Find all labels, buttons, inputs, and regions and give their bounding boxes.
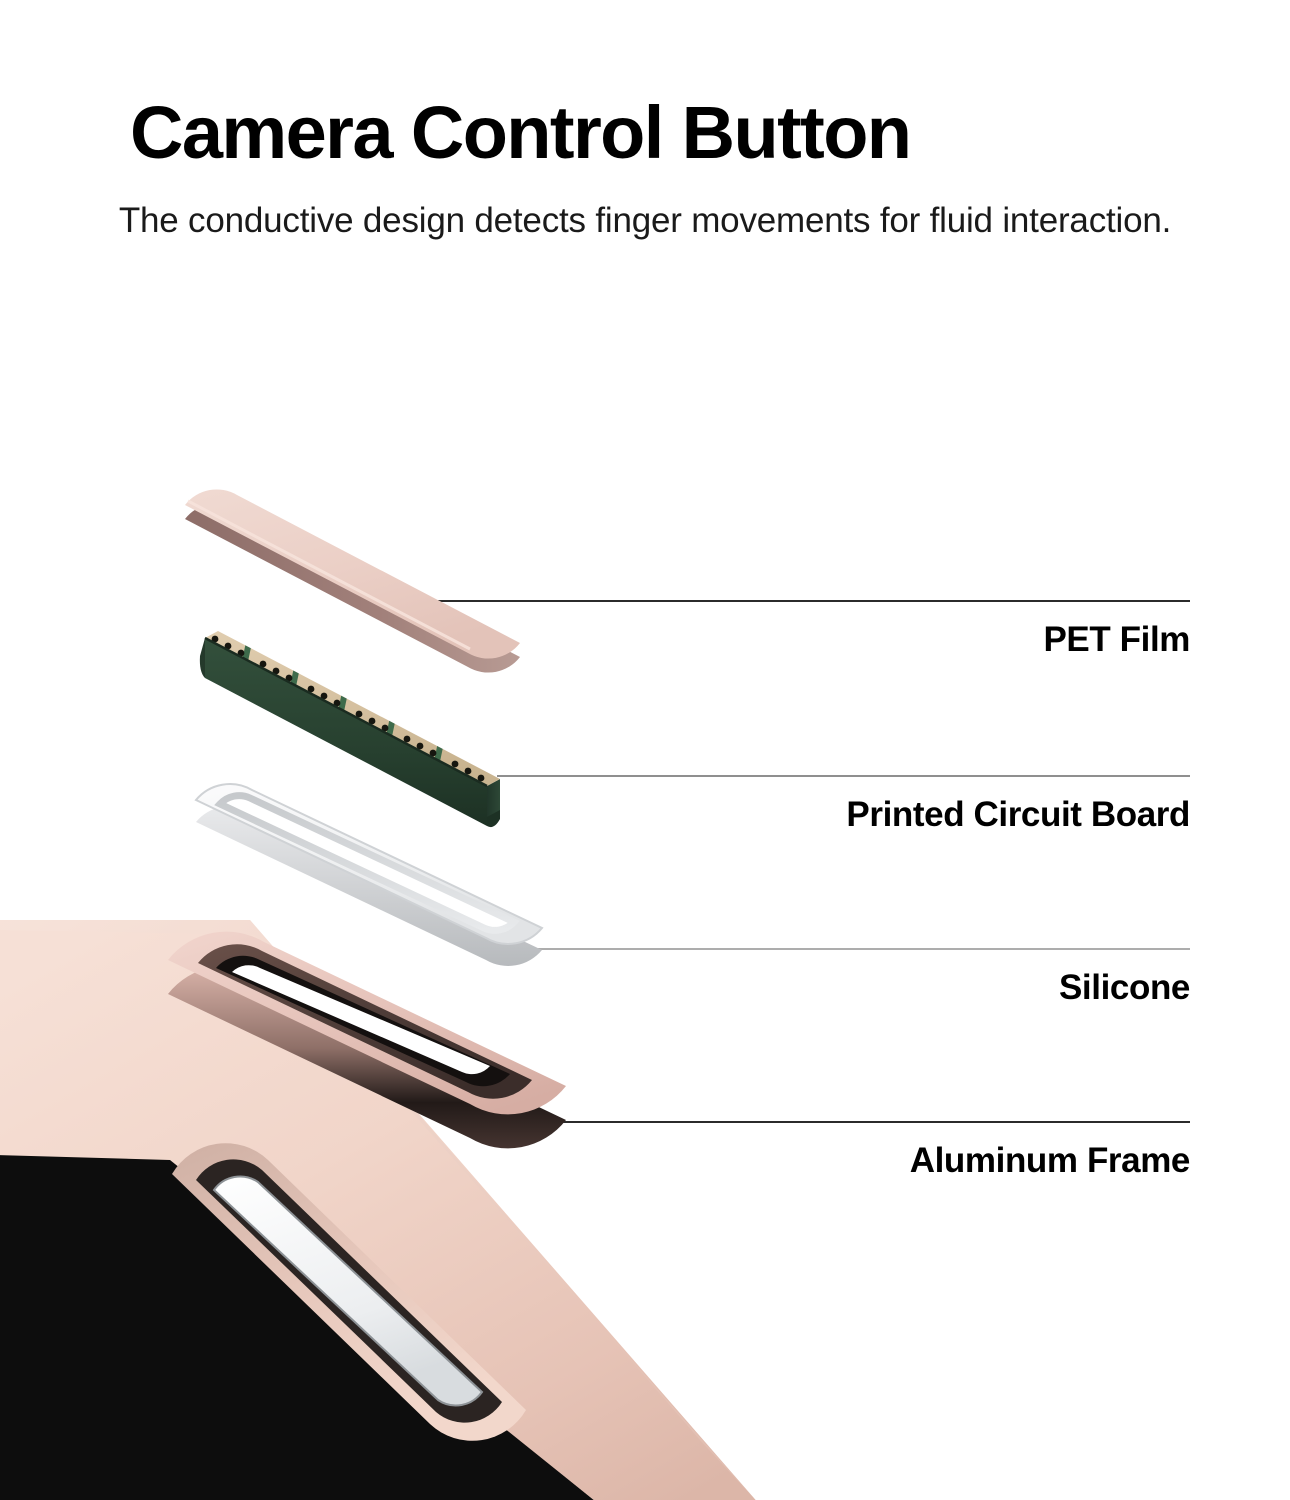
infographic-page: Camera Control Button The conductive des… [0, 0, 1290, 1500]
callout-aluminum-frame: Aluminum Frame [390, 1143, 1190, 1178]
callout-label-pet-film: PET Film [390, 622, 1190, 657]
callout-silicone: Silicone [390, 970, 1190, 1005]
callout-label-printed-circuit-board: Printed Circuit Board [390, 797, 1190, 832]
leader-lines [422, 601, 1190, 1122]
pcb-left-end [200, 638, 205, 678]
callout-label-silicone: Silicone [390, 970, 1190, 1005]
callout-label-aluminum-frame: Aluminum Frame [390, 1143, 1190, 1178]
pcb-seam [205, 638, 487, 786]
exploded-view-illustration [0, 0, 1290, 1500]
callout-printed-circuit-board: Printed Circuit Board [390, 797, 1190, 832]
callout-pet-film: PET Film [390, 622, 1190, 657]
